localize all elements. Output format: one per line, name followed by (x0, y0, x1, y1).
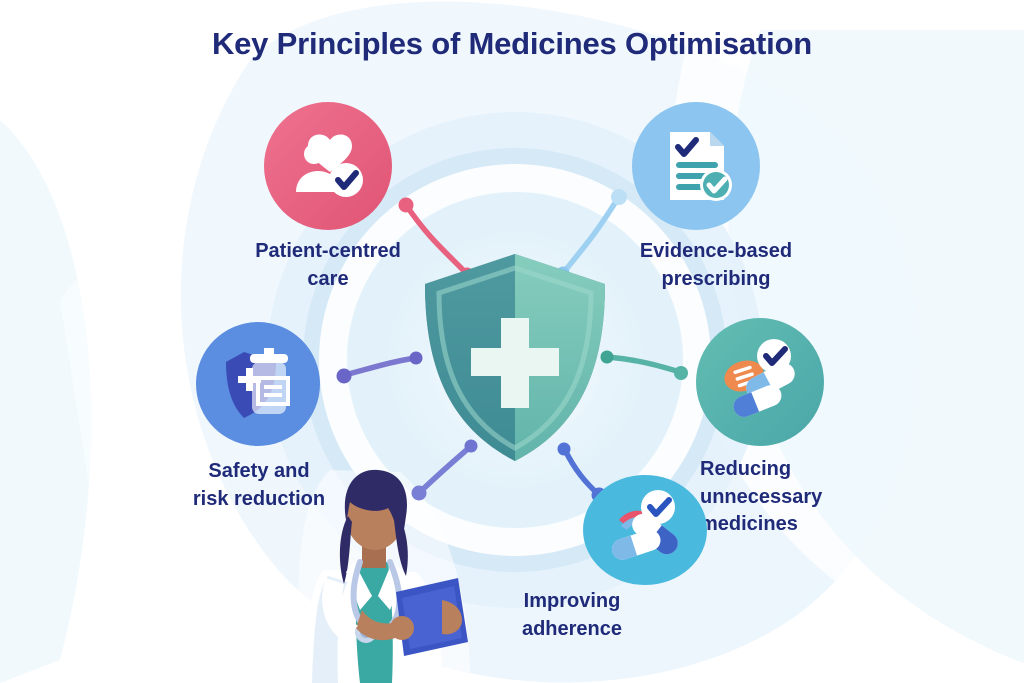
female-doctor-illustration (292, 450, 492, 683)
improving-adherence-bubble[interactable] (583, 475, 707, 585)
label-line: medicines (700, 511, 910, 539)
patient-centred-care-bubble[interactable] (264, 102, 392, 230)
label-line: prescribing (596, 266, 836, 294)
label-line: Reducing (700, 456, 910, 484)
capsules-check-icon (599, 486, 691, 574)
page-title: Key Principles of Medicines Optimisation (0, 26, 1024, 62)
label-line: Evidence-based (596, 238, 836, 266)
infographic-canvas: Key Principles of Medicines Optimisation… (0, 0, 1024, 683)
document-check-icon (652, 122, 740, 210)
reducing-unnecessary-medicines-label: Reducing unnecessary medicines (700, 456, 910, 539)
label-line: care (206, 266, 450, 294)
reducing-unnecessary-medicines-bubble[interactable] (696, 318, 824, 446)
label-line: Patient-centred (206, 238, 450, 266)
pills-check-icon (712, 334, 808, 430)
person-heart-check-icon (282, 120, 374, 212)
label-line: unnecessary (700, 484, 910, 512)
evidence-based-prescribing-bubble[interactable] (632, 102, 760, 230)
patient-centred-care-label: Patient-centred care (206, 238, 450, 293)
evidence-based-prescribing-label: Evidence-based prescribing (596, 238, 836, 293)
safety-and-risk-reduction-bubble[interactable] (196, 322, 320, 446)
shield-bottle-icon (214, 340, 302, 428)
